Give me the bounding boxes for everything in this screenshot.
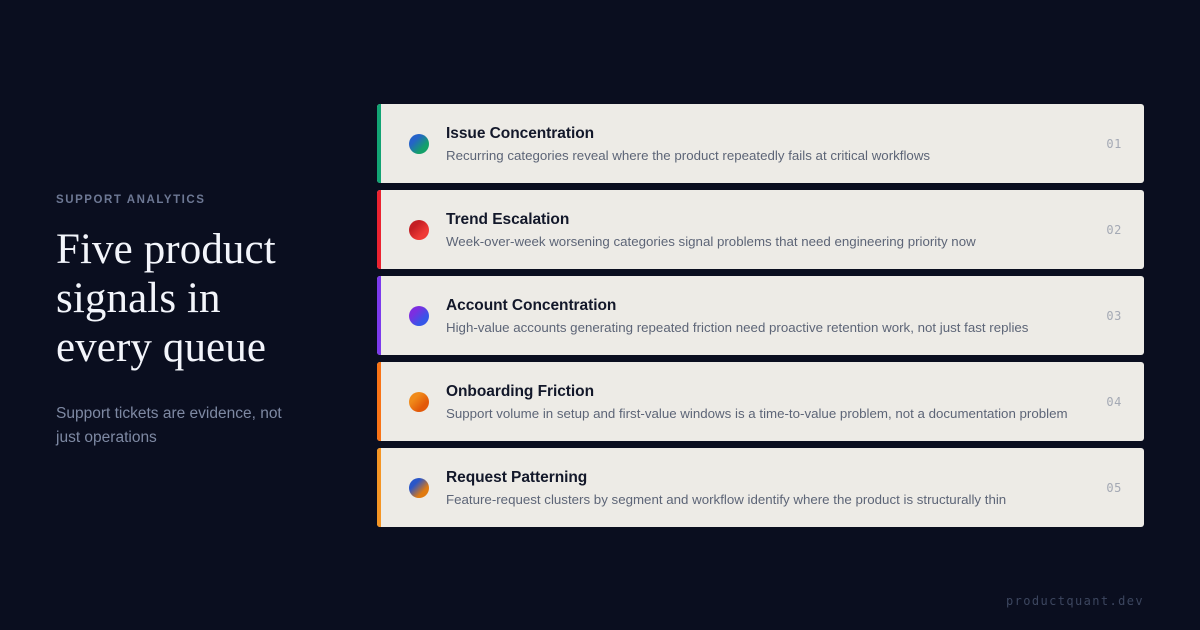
card-number: 01 [1106,137,1122,151]
status-dot-icon [409,134,429,154]
card-body: Trend EscalationWeek-over-week worsening… [446,210,1092,250]
card-title: Account Concentration [446,296,1092,315]
card-body: Issue ConcentrationRecurring categories … [446,124,1092,164]
status-dot-icon [409,478,429,498]
card-title: Trend Escalation [446,210,1092,229]
eyebrow-label: SUPPORT ANALYTICS [56,194,356,206]
signal-card[interactable]: Issue ConcentrationRecurring categories … [377,104,1144,183]
card-description: Support volume in setup and first-value … [446,405,1092,422]
status-dot-icon [409,220,429,240]
card-title: Request Patterning [446,468,1092,487]
status-dot-icon [409,306,429,326]
card-description: Week-over-week worsening categories sign… [446,233,1092,250]
signal-card[interactable]: Trend EscalationWeek-over-week worsening… [377,190,1144,269]
signal-card[interactable]: Onboarding FrictionSupport volume in set… [377,362,1144,441]
status-dot-icon [409,392,429,412]
left-panel: SUPPORT ANALYTICS Five product signals i… [56,194,356,450]
accent-bar [377,362,381,441]
card-description: Feature-request clusters by segment and … [446,491,1092,508]
signal-card[interactable]: Request PatterningFeature-request cluste… [377,448,1144,527]
signal-card[interactable]: Account ConcentrationHigh-value accounts… [377,276,1144,355]
card-number: 04 [1106,395,1122,409]
card-title: Onboarding Friction [446,382,1092,401]
card-description: Recurring categories reveal where the pr… [446,147,1092,164]
slide-canvas: SUPPORT ANALYTICS Five product signals i… [0,0,1200,630]
accent-bar [377,448,381,527]
page-title: Five product signals in every queue [56,225,316,372]
card-body: Request PatterningFeature-request cluste… [446,468,1092,508]
card-number: 03 [1106,309,1122,323]
accent-bar [377,276,381,355]
card-number: 05 [1106,481,1122,495]
accent-bar [377,104,381,183]
footer-url: productquant.dev [1006,594,1144,608]
accent-bar [377,190,381,269]
card-number: 02 [1106,223,1122,237]
card-description: High-value accounts generating repeated … [446,319,1092,336]
page-subtitle: Support tickets are evidence, not just o… [56,402,304,450]
signal-card-list: Issue ConcentrationRecurring categories … [377,104,1144,527]
card-title: Issue Concentration [446,124,1092,143]
card-body: Account ConcentrationHigh-value accounts… [446,296,1092,336]
card-body: Onboarding FrictionSupport volume in set… [446,382,1092,422]
